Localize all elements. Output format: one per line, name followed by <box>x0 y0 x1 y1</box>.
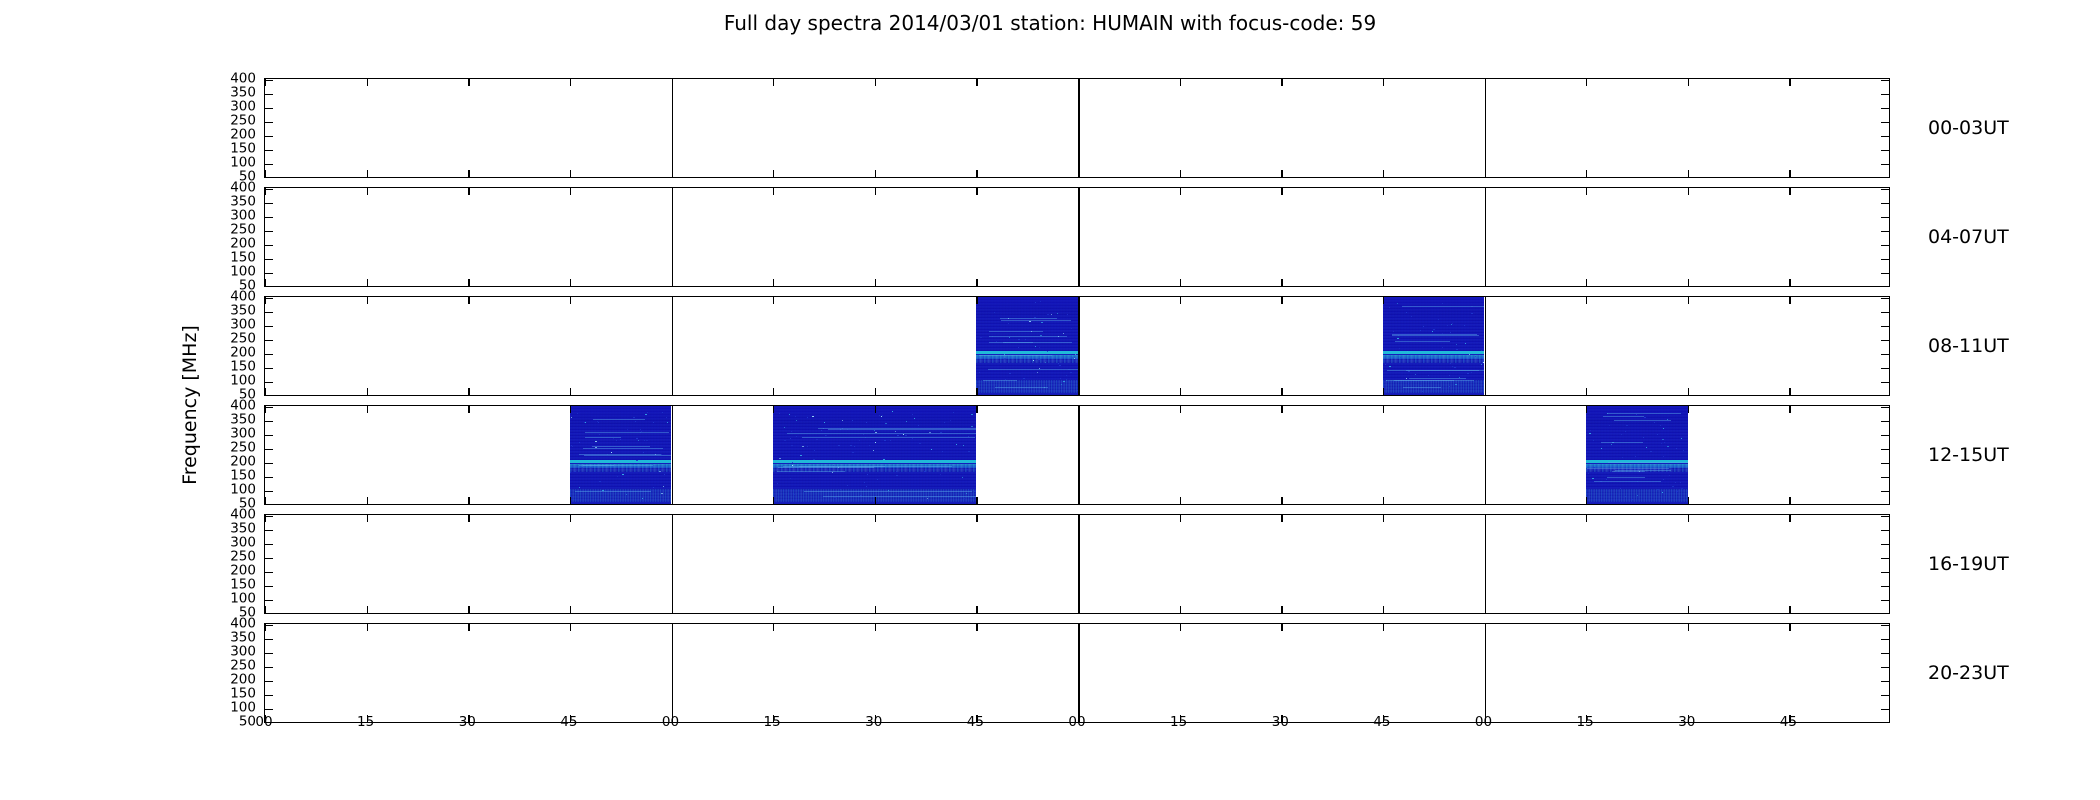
spectrogram-pixel <box>867 474 868 475</box>
x-tick-mark <box>367 188 368 195</box>
y-tick-mark <box>1881 382 1889 383</box>
x-tick-mark <box>1383 79 1384 86</box>
x-tick-mark <box>875 188 876 195</box>
x-tick-mark <box>1383 188 1384 195</box>
x-tick-mark <box>1586 624 1587 631</box>
x-tick-mark <box>1078 406 1079 413</box>
y-tick-mark <box>1881 667 1889 668</box>
y-tick-mark <box>265 217 273 218</box>
spectrogram-data-block[interactable] <box>570 406 672 505</box>
x-tick-mark <box>468 279 469 286</box>
spectrogram-pixel <box>1066 379 1067 380</box>
y-tick-mark <box>1881 122 1889 123</box>
x-tick-mark <box>1078 279 1079 286</box>
y-tick-mark <box>265 435 273 436</box>
spectrogram-pixel <box>877 479 878 480</box>
y-tick-mark <box>265 407 273 408</box>
plot-axes[interactable] <box>264 296 1890 396</box>
spectrogram-pixel <box>863 434 864 435</box>
spectrogram-pixel <box>885 423 887 424</box>
spectrogram-drift-line <box>1607 413 1680 414</box>
plot-axes[interactable] <box>264 78 1890 178</box>
y-tick-mark <box>265 273 273 274</box>
x-tick-mark <box>570 279 571 286</box>
panel-divider <box>672 188 674 287</box>
spectrogram-drift-line <box>583 465 654 466</box>
y-tick-mark <box>1881 231 1889 232</box>
spectrogram-pixel <box>1038 359 1040 360</box>
spectrogram-drift-line <box>584 455 671 456</box>
spectrogram-pixel <box>963 445 964 446</box>
panel-divider <box>1485 188 1487 287</box>
spectrogram-data-block[interactable] <box>773 406 976 505</box>
x-tick-mark <box>1383 279 1384 286</box>
spectrogram-pixel <box>927 498 928 499</box>
spectrogram-pixel <box>1588 473 1589 474</box>
x-tick-mark <box>468 606 469 613</box>
x-tick-label: 45 <box>1373 714 1390 730</box>
spectrogram-pixel <box>1423 326 1424 327</box>
x-tick-mark <box>1688 388 1689 395</box>
x-tick-mark <box>1281 79 1282 86</box>
spectra-row: 4003503002502001501005004-07UT <box>264 187 1890 287</box>
spectrogram-pixel <box>795 416 796 417</box>
spectrogram-pixel <box>1071 328 1072 329</box>
y-tick-mark <box>1881 273 1889 274</box>
spectrogram-pixel <box>622 474 624 475</box>
spectrogram-pixel <box>784 427 785 428</box>
y-tick-mark <box>265 463 273 464</box>
x-tick-mark <box>875 606 876 613</box>
y-tick-mark <box>1881 150 1889 151</box>
y-tick-mark <box>1881 516 1889 517</box>
plot-axes[interactable] <box>264 623 1890 723</box>
spectrogram-pixel <box>974 491 976 492</box>
spectrogram-pixel <box>1601 448 1602 449</box>
y-tick-mark <box>1881 709 1889 710</box>
spectrogram-pixel <box>1646 447 1647 448</box>
x-tick-mark <box>773 279 774 286</box>
spectrogram-drift-line <box>787 433 976 434</box>
spectrogram-pixel <box>881 416 882 417</box>
plot-axes[interactable] <box>264 405 1890 505</box>
spectrogram-drift-line <box>583 448 663 449</box>
spectrogram-pixel <box>640 429 641 430</box>
x-tick-mark <box>1281 406 1282 413</box>
spectrogram-pixel <box>919 443 921 444</box>
spectrogram-pixel <box>866 422 867 423</box>
x-tick-mark <box>773 406 774 413</box>
spectrogram-drift-line <box>818 428 976 429</box>
spectrogram-pixel <box>1482 362 1483 363</box>
panel-divider <box>1485 515 1487 614</box>
spectrogram-pixel <box>598 422 599 423</box>
spectrogram-drift-line <box>989 331 1042 332</box>
spectrogram-drift-line <box>575 491 651 492</box>
spectrogram-pixel <box>1411 316 1412 317</box>
spectrogram-pixel <box>1004 358 1006 359</box>
spectrogram-pixel <box>613 438 614 439</box>
y-tick-mark <box>1881 572 1889 573</box>
spectrogram-pixel <box>1625 431 1626 432</box>
spectrogram-pixel <box>590 467 592 468</box>
x-tick-mark <box>1789 79 1790 86</box>
spectrogram-pixel <box>1622 457 1623 458</box>
spectrogram-pixel <box>869 445 870 446</box>
y-tick-mark <box>265 586 273 587</box>
spectrogram-pixel <box>1456 349 1458 350</box>
x-tick-mark <box>468 188 469 195</box>
x-tick-label: 45 <box>560 714 577 730</box>
spectrogram-pixel <box>931 449 932 450</box>
spectrogram-pixel <box>579 442 580 443</box>
spectrogram-pixel <box>1621 434 1622 435</box>
spectra-row: 4003503002502001501005000-03UT <box>264 78 1890 178</box>
spectrogram-pixel <box>661 454 662 455</box>
spectrogram-drift-line <box>593 419 645 420</box>
spectrogram-pixel <box>646 440 648 441</box>
y-tick-mark <box>265 600 273 601</box>
x-tick-mark <box>1383 624 1384 631</box>
row-time-range-label: 16-19UT <box>1928 553 2009 575</box>
x-tick-label: 45 <box>967 714 984 730</box>
x-tick-mark <box>1789 406 1790 413</box>
y-tick-mark <box>1881 368 1889 369</box>
x-tick-mark <box>367 515 368 522</box>
x-tick-mark <box>1180 406 1181 413</box>
spectrogram-pixel <box>1662 492 1663 493</box>
spectrogram-pixel <box>620 439 621 440</box>
x-tick-mark <box>1281 624 1282 631</box>
spectrogram-pixel <box>1033 360 1034 361</box>
spectrogram-pixel <box>1051 314 1052 315</box>
spectrogram-pixel <box>1592 478 1594 479</box>
spectrogram-pixel <box>905 435 907 436</box>
spectrogram-data-block[interactable] <box>976 297 1078 396</box>
x-tick-mark <box>468 406 469 413</box>
spectrogram-pixel <box>1432 331 1433 332</box>
x-tick-mark <box>773 170 774 177</box>
y-tick-mark <box>1881 80 1889 81</box>
spectrogram-pixel <box>1063 333 1064 334</box>
spectrogram-pixel <box>1067 314 1068 315</box>
spectrogram-pixel <box>1399 348 1400 349</box>
spectrogram-pixel <box>1676 491 1678 492</box>
x-tick-mark <box>1789 297 1790 304</box>
y-tick-mark <box>265 558 273 559</box>
spectrogram-pixel <box>859 440 860 441</box>
panel-divider <box>1078 79 1080 178</box>
spectrogram-pixel <box>1442 303 1443 304</box>
spectrogram-pixel <box>664 474 665 475</box>
y-tick-mark <box>265 122 273 123</box>
spectrogram-pixel <box>1039 347 1040 348</box>
x-tick-mark <box>1586 497 1587 504</box>
spectrogram-pixel <box>912 414 913 415</box>
x-tick-label: 30 <box>1272 714 1289 730</box>
spectrogram-pixel <box>802 446 804 447</box>
y-tick-mark <box>265 80 273 81</box>
panel-divider <box>1078 188 1080 287</box>
spectrogram-drift-line <box>989 336 1067 337</box>
spectrogram-pixel <box>1631 499 1633 500</box>
y-tick-mark <box>1881 407 1889 408</box>
spectrogram-pixel <box>617 476 618 477</box>
x-tick-mark <box>1586 297 1587 304</box>
spectrogram-pixel <box>821 430 822 431</box>
spectrogram-pixel <box>611 452 612 453</box>
x-tick-mark <box>672 388 673 395</box>
x-tick-mark <box>1180 606 1181 613</box>
spectrogram-pixel <box>1662 439 1664 440</box>
y-tick-mark <box>1881 544 1889 545</box>
spectrogram-pixel <box>942 451 943 452</box>
spectrogram-drift-line <box>828 429 976 430</box>
spectrogram-pixel <box>1070 372 1072 373</box>
x-tick-mark <box>1688 515 1689 522</box>
spectrogram-pixel <box>1676 448 1677 449</box>
x-tick-mark <box>367 406 368 413</box>
spectrogram-drift-line <box>585 432 669 433</box>
x-tick-mark <box>1078 297 1079 304</box>
spectrogram-pixel <box>940 474 941 475</box>
spectrogram-pixel <box>1018 339 1020 340</box>
x-tick-mark <box>773 606 774 613</box>
y-tick-mark <box>265 94 273 95</box>
spectrogram-pixel <box>826 435 827 436</box>
spectrogram-pixel <box>1008 323 1009 324</box>
spectrogram-pixel <box>1454 367 1456 368</box>
spectrogram-pixel <box>659 471 661 472</box>
spectrogram-pixel <box>1433 329 1435 330</box>
x-tick-label: 15 <box>1170 714 1187 730</box>
x-tick-mark <box>1180 624 1181 631</box>
y-tick-mark <box>265 709 273 710</box>
y-tick-mark <box>1881 108 1889 109</box>
x-tick-mark <box>976 279 977 286</box>
y-tick-mark <box>1881 530 1889 531</box>
spectrogram-pixel <box>779 458 781 459</box>
x-tick-mark <box>1281 497 1282 504</box>
row-time-range-label: 08-11UT <box>1928 335 2009 357</box>
x-tick-mark <box>1180 388 1181 395</box>
spectrogram-pixel <box>1590 430 1591 431</box>
spectrogram-drift-line <box>979 355 1052 356</box>
x-tick-mark <box>1180 297 1181 304</box>
spectrogram-pixel <box>1415 374 1416 375</box>
spectrogram-data-block[interactable] <box>1383 297 1485 396</box>
x-tick-mark <box>875 515 876 522</box>
spectrogram-pixel <box>1422 391 1423 392</box>
y-tick-mark <box>265 681 273 682</box>
spectrogram-drift-line <box>1603 416 1645 417</box>
spectrogram-pixel <box>864 482 865 483</box>
panel-divider <box>672 624 674 723</box>
x-tick-label: 00 <box>662 714 679 730</box>
spectrogram-pixel <box>918 425 919 426</box>
spectrogram-pixel <box>1657 489 1659 490</box>
spectrogram-pixel <box>852 420 853 421</box>
x-tick-mark <box>1180 79 1181 86</box>
x-tick-mark <box>265 170 266 177</box>
spectrogram-pixel <box>572 446 573 447</box>
x-tick-mark <box>773 388 774 395</box>
x-tick-mark <box>1078 497 1079 504</box>
x-tick-mark <box>1281 188 1282 195</box>
spectrogram-drift-line <box>1387 370 1479 371</box>
spectrogram-pixel <box>1037 372 1038 373</box>
y-tick-mark <box>1881 245 1889 246</box>
spectrogram-pixel <box>812 416 814 417</box>
x-tick-mark <box>468 170 469 177</box>
spectrogram-pixel <box>847 485 848 486</box>
spectrogram-pixel <box>796 436 797 437</box>
spectrogram-pixel <box>1609 425 1610 426</box>
spectrogram-pixel <box>647 412 648 413</box>
spectrogram-pixel <box>577 413 578 414</box>
x-tick-mark <box>976 515 977 522</box>
x-tick-mark <box>976 406 977 413</box>
spectrogram-pixel <box>1675 482 1676 483</box>
spectra-row: 4003503002502001501005020-23UT <box>264 623 1890 723</box>
spectrogram-pixel <box>1593 440 1594 441</box>
spectrogram-data-block[interactable] <box>1586 406 1688 505</box>
spectrogram-pixel <box>852 452 854 453</box>
spectrogram-pixel <box>1025 339 1026 340</box>
spectrogram-pixel <box>571 445 572 446</box>
spectrogram-pixel <box>1047 314 1049 315</box>
x-tick-mark <box>367 297 368 304</box>
y-tick-mark <box>265 449 273 450</box>
spectrogram-pixel <box>1469 354 1470 355</box>
y-tick-mark <box>1881 136 1889 137</box>
spectrogram-pixel <box>825 435 826 436</box>
x-tick-mark <box>672 515 673 522</box>
y-tick-mark <box>265 298 273 299</box>
spectrogram-drift-line <box>1402 306 1485 307</box>
y-tick-mark <box>1881 203 1889 204</box>
spectrogram-pixel <box>1611 444 1612 445</box>
x-tick-label: 15 <box>764 714 781 730</box>
spectrogram-pixel <box>599 481 601 482</box>
row-time-range-label: 12-15UT <box>1928 444 2009 466</box>
x-tick-mark <box>875 497 876 504</box>
x-tick-mark <box>1688 170 1689 177</box>
x-tick-mark <box>1586 606 1587 613</box>
spectrogram-pixel <box>595 441 597 442</box>
x-tick-mark <box>1586 406 1587 413</box>
spectra-figure: Full day spectra 2014/03/01 station: HUM… <box>0 0 2100 800</box>
x-tick-mark <box>1078 624 1079 631</box>
panel-divider <box>1078 624 1080 723</box>
spectrogram-drift-line <box>1001 320 1071 321</box>
x-tick-mark <box>1485 279 1486 286</box>
spectrogram-drift-line <box>1594 481 1661 482</box>
spectrogram-pixel <box>1005 362 1006 363</box>
spectrogram-drift-line <box>777 471 844 472</box>
spectrogram-pixel <box>896 471 897 472</box>
x-tick-mark <box>1688 606 1689 613</box>
x-tick-mark <box>875 624 876 631</box>
spectrogram-pixel <box>1644 417 1646 418</box>
row-time-range-label: 00-03UT <box>1928 117 2009 139</box>
spectrogram-pixel <box>850 445 852 446</box>
plot-axes[interactable] <box>264 187 1890 287</box>
y-tick-mark <box>265 572 273 573</box>
spectrogram-pixel <box>1660 425 1661 426</box>
spectrogram-pixel <box>1066 375 1067 376</box>
x-tick-mark <box>875 170 876 177</box>
x-tick-mark <box>672 79 673 86</box>
spectrogram-pixel <box>1657 434 1658 435</box>
spectrogram-pixel <box>807 417 808 418</box>
x-tick-mark <box>265 388 266 395</box>
x-tick-mark <box>570 624 571 631</box>
x-tick-mark <box>1485 297 1486 304</box>
x-tick-mark <box>976 170 977 177</box>
spectrogram-pixel <box>1611 494 1612 495</box>
y-tick-mark <box>265 108 273 109</box>
panel-divider <box>1485 79 1487 178</box>
y-tick-mark <box>1881 312 1889 313</box>
spectrogram-pixel <box>1481 364 1482 365</box>
x-tick-mark <box>1789 497 1790 504</box>
x-tick-mark <box>976 497 977 504</box>
x-tick-label: 00 <box>1068 714 1085 730</box>
spectrogram-pixel <box>1449 375 1450 376</box>
x-tick-mark <box>367 170 368 177</box>
x-tick-mark <box>1281 170 1282 177</box>
y-tick-mark <box>265 477 273 478</box>
x-tick-mark <box>773 188 774 195</box>
spectrogram-pixel <box>1018 347 1019 348</box>
spectrogram-pixel <box>842 420 843 421</box>
spectrogram-pixel <box>662 412 663 413</box>
y-tick-mark <box>1881 463 1889 464</box>
spectrogram-pixel <box>579 487 580 488</box>
spectrogram-pixel <box>873 450 874 451</box>
spectrogram-pixel <box>1450 363 1451 364</box>
spectrogram-pixel <box>1035 346 1036 347</box>
spectrogram-drift-line <box>1615 470 1671 471</box>
x-tick-mark <box>570 606 571 613</box>
spectra-row: 4003503002502001501005016-19UT <box>264 514 1890 614</box>
spectrogram-pixel <box>635 421 636 422</box>
spectrogram-pixel <box>824 422 825 423</box>
spectrogram-pixel <box>636 460 638 461</box>
x-tick-mark <box>1485 406 1486 413</box>
x-tick-mark <box>875 297 876 304</box>
plot-axes[interactable] <box>264 514 1890 614</box>
spectrogram-pixel <box>642 498 643 499</box>
x-tick-label: 45 <box>1780 714 1797 730</box>
spectrogram-drift-line <box>1608 462 1687 463</box>
y-tick-mark <box>265 653 273 654</box>
x-tick-mark <box>570 515 571 522</box>
spectrogram-drift-line <box>1403 387 1441 388</box>
spectrogram-pixel <box>778 496 779 497</box>
spectrogram-drift-line <box>995 387 1049 388</box>
spectrogram-pixel <box>1072 357 1073 358</box>
spectrogram-drift-line <box>1392 335 1479 336</box>
spectrogram-pixel <box>1442 347 1443 348</box>
x-tick-mark <box>1078 79 1079 86</box>
y-tick-mark <box>1881 298 1889 299</box>
y-tick-mark <box>1881 491 1889 492</box>
spectrogram-pixel <box>793 494 795 495</box>
spectrogram-pixel <box>813 459 815 460</box>
x-tick-mark <box>976 388 977 395</box>
